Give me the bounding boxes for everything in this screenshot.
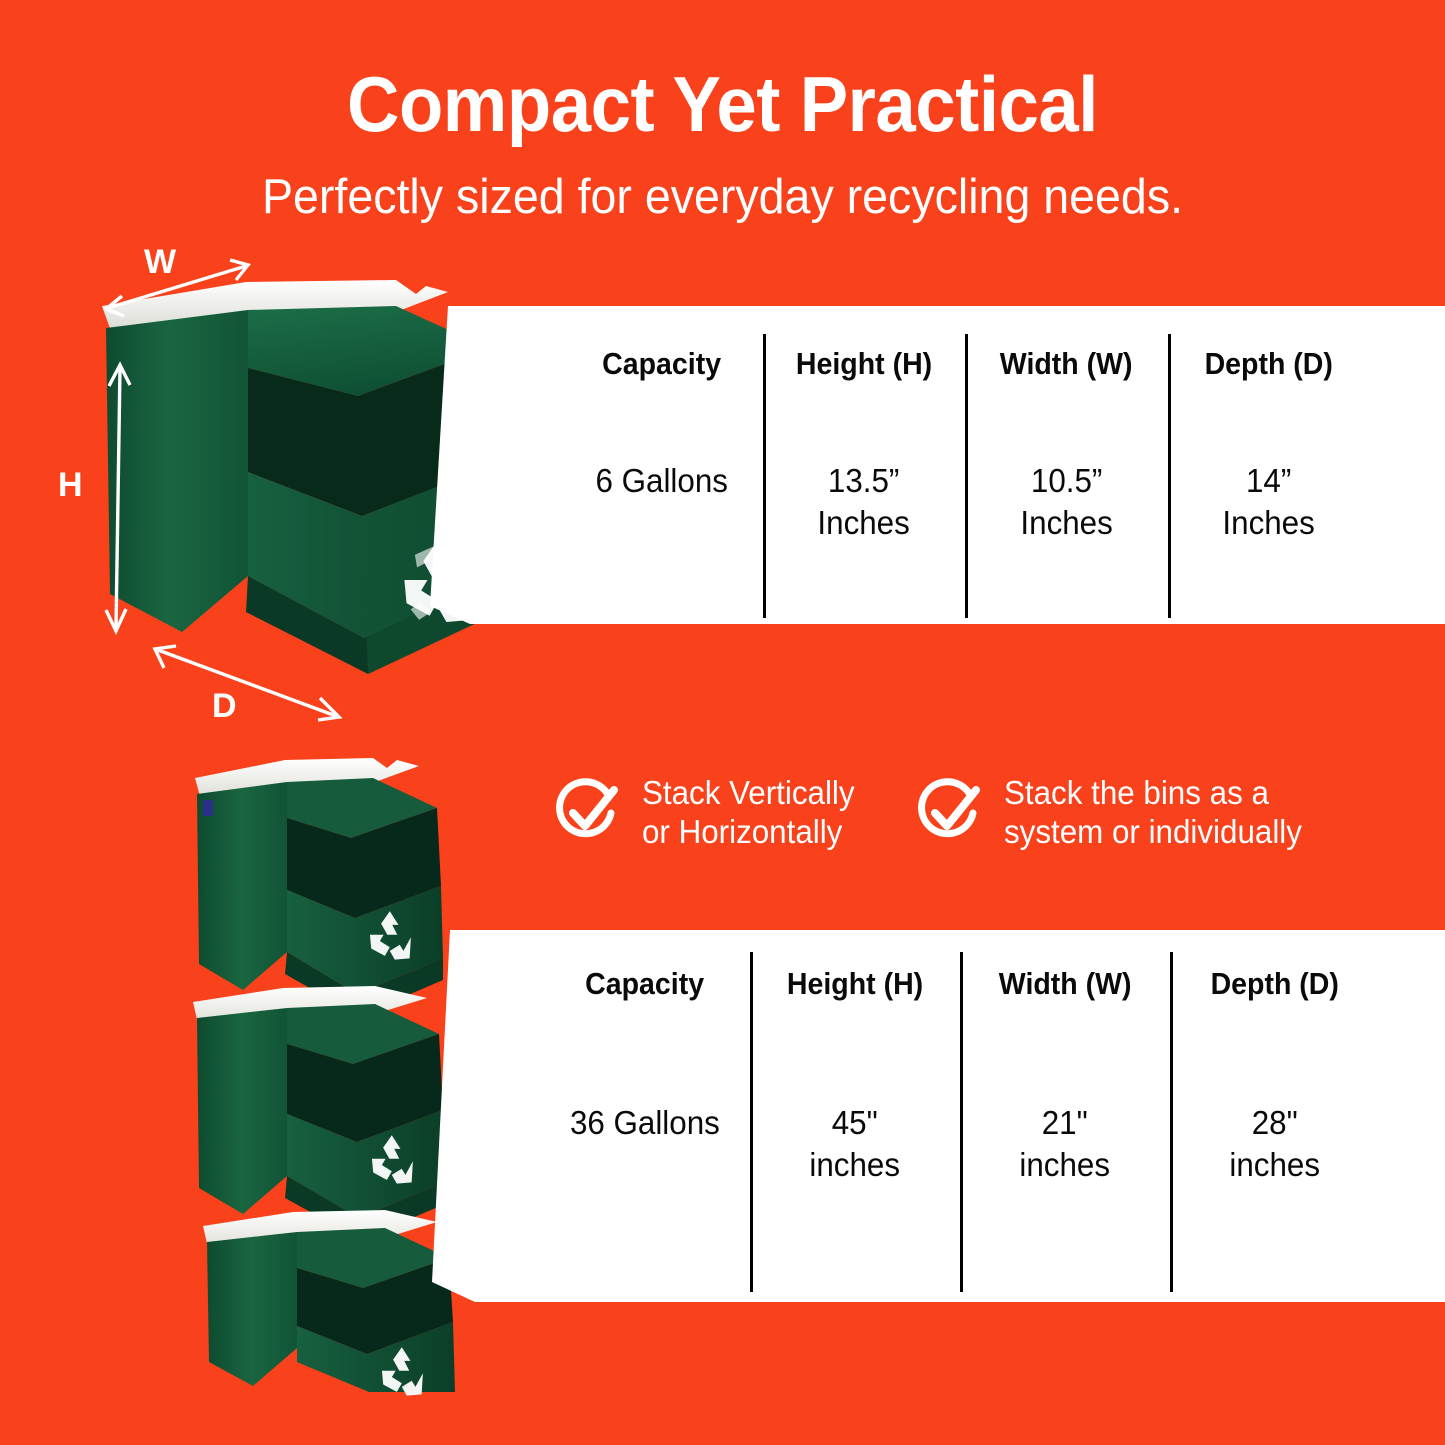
width-dimension-arrow [100,258,260,318]
stacked-bin-bottom [203,1210,455,1396]
spec-column-depth: Depth (D) 28" inches [1170,966,1380,1256]
feature-item: Stack the bins as a system or individual… [914,762,1318,862]
spec-value-line2: inches [1230,1144,1321,1186]
spec-value: 28" inches [1230,1102,1321,1186]
feature-text-line2: system or individually [1004,812,1302,851]
feature-item: Stack Vertically or Horizontally [552,762,866,862]
bin-left-wall [207,1232,297,1386]
feature-text-line1: Stack the bins as a [1004,773,1302,812]
check-circle-icon [914,776,986,848]
spec-value: 6 Gallons [595,460,727,502]
spec-value-line2: Inches [1223,502,1315,544]
spec-header: Width (W) [1000,346,1133,382]
spec-header: Depth (D) [1205,346,1333,382]
height-dimension-arrow [98,360,138,638]
spec-column-depth: Depth (D) 14” Inches [1168,346,1371,586]
spec-column-width: Width (W) 21" inches [960,966,1170,1256]
spec-column-height: Height (H) 45" inches [750,966,960,1256]
stacked-bin-top [195,758,443,1016]
spec-column-width: Width (W) 10.5” Inches [965,346,1168,586]
spec-value: 45" inches [810,1102,901,1186]
spec-value-line1: 6 Gallons [595,460,727,502]
spec-header: Height (H) [787,966,923,1002]
spec-table-single: Capacity 6 Gallons Height (H) 13.5” Inch… [560,346,1370,586]
spec-value-line1: 21" [1020,1102,1111,1144]
spec-value: 21" inches [1020,1102,1111,1186]
spec-header: Capacity [602,346,721,382]
feature-text: Stack the bins as a system or individual… [1004,773,1302,851]
stacked-bin-middle [193,986,445,1240]
spec-table-stacked: Capacity 36 Gallons Height (H) 45" inche… [540,966,1380,1256]
spec-value-line1: 36 Gallons [570,1102,720,1144]
spec-column-capacity: Capacity 36 Gallons [540,966,750,1256]
spec-value-line1: 45" [810,1102,901,1144]
check-circle-icon [552,776,624,848]
page-title: Compact Yet Practical [51,62,1395,146]
spec-header: Depth (D) [1211,966,1339,1002]
feature-list: Stack Vertically or Horizontally Stack t… [552,762,1392,862]
spec-column-capacity: Capacity 6 Gallons [560,346,763,586]
page-subtitle: Perfectly sized for everyday recycling n… [36,168,1409,226]
spec-value: 36 Gallons [570,1102,720,1144]
spec-header: Capacity [586,966,705,1002]
spec-header: Width (W) [999,966,1132,1002]
spec-value-line2: Inches [818,502,910,544]
spec-value-line1: 28" [1230,1102,1321,1144]
feature-text: Stack Vertically or Horizontally [642,773,855,851]
infographic-canvas: Compact Yet Practical Perfectly sized fo… [0,0,1445,1445]
spec-value: 13.5” Inches [818,460,910,544]
width-label: W [144,243,176,282]
spec-value-line1: 10.5” [1020,460,1112,502]
depth-label: D [212,687,237,726]
spec-column-height: Height (H) 13.5” Inches [763,346,966,586]
feature-text-line1: Stack Vertically [642,773,855,812]
bin-left-wall [197,1008,287,1214]
spec-value: 10.5” Inches [1020,460,1112,544]
spec-value-line2: Inches [1020,502,1112,544]
bin-clip [203,800,213,816]
spec-value-line1: 14” [1223,460,1315,502]
feature-text-line2: or Horizontally [642,812,855,851]
spec-value-line2: inches [810,1144,901,1186]
spec-header: Height (H) [796,346,932,382]
depth-dimension-arrow [150,640,350,728]
spec-value: 14” Inches [1223,460,1315,544]
height-label: H [58,466,83,505]
spec-value-line2: inches [1020,1144,1111,1186]
spec-value-line1: 13.5” [818,460,910,502]
